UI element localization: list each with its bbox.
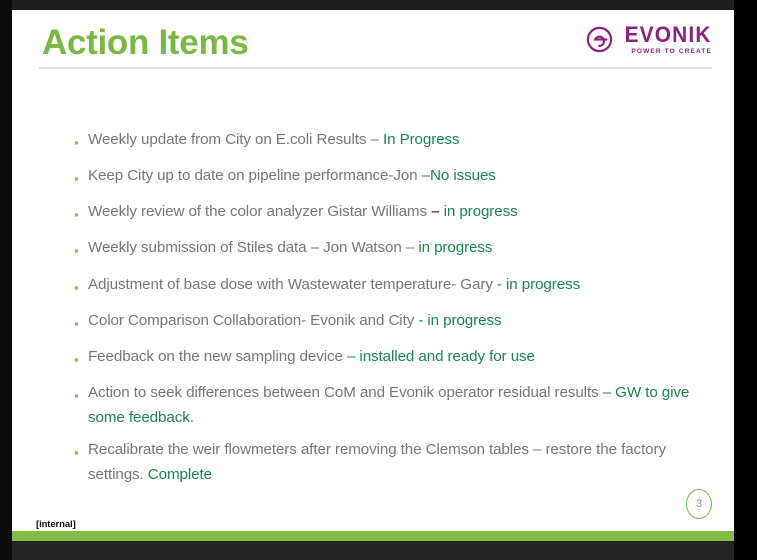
list-item-text: Action to seek differences between CoM a… <box>88 381 714 430</box>
page-title: Action Items <box>42 23 248 63</box>
slide-viewer: Action Items EVONIK POWER TO CREATE <box>0 0 757 560</box>
footer-accent-bar <box>12 531 734 541</box>
list-item: Keep City up to date on pipeline perform… <box>74 164 714 189</box>
bullet-icon <box>74 128 88 149</box>
evonik-wordmark: EVONIK POWER TO CREATE <box>620 24 712 56</box>
bullet-icon <box>74 438 88 459</box>
viewer-bottom-band <box>0 541 757 560</box>
slide-title-area: Action Items EVONIK POWER TO CREATE <box>12 10 734 72</box>
viewer-right-band <box>734 0 757 560</box>
status-text: –No issues <box>422 167 496 184</box>
list-item: Feedback on the new sampling device – in… <box>74 345 714 370</box>
bullet-icon <box>74 309 88 330</box>
list-item-text: Adjustment of base dose with Wastewater … <box>88 273 714 298</box>
list-item: Recalibrate the weir flowmeters after re… <box>74 438 714 487</box>
bullet-icon <box>74 345 88 366</box>
list-item: Weekly update from City on E.coli Result… <box>74 128 714 153</box>
title-divider <box>39 67 712 69</box>
list-item-text: Recalibrate the weir flowmeters after re… <box>88 438 714 487</box>
status-text: – installed and ready for use <box>347 348 535 365</box>
evonik-e-circle-icon <box>586 26 613 53</box>
viewer-top-band <box>0 0 757 10</box>
list-item: Color Comparison Collaboration- Evonik a… <box>74 309 714 334</box>
viewer-left-band <box>0 0 12 560</box>
brand-name: EVONIK <box>625 24 712 46</box>
list-item-text: Weekly review of the color analyzer Gist… <box>88 200 714 225</box>
status-text: - in progress <box>418 312 501 329</box>
status-text: in progress <box>439 203 517 220</box>
bullet-icon <box>74 200 88 221</box>
bullet-icon <box>74 273 88 294</box>
slide-canvas: Action Items EVONIK POWER TO CREATE <box>12 10 734 541</box>
status-text: - in progress <box>497 276 580 293</box>
list-item-text: Feedback on the new sampling device – in… <box>88 345 714 370</box>
status-text: Complete <box>148 466 212 483</box>
list-item-text: Weekly submission of Stiles data – Jon W… <box>88 236 714 261</box>
evonik-logo: EVONIK POWER TO CREATE <box>586 24 712 56</box>
status-text: In Progress <box>383 131 460 148</box>
action-items-list: Weekly update from City on E.coli Result… <box>74 128 714 495</box>
bullet-icon <box>74 164 88 185</box>
list-item-text: Keep City up to date on pipeline perform… <box>88 164 714 189</box>
status-text: in progress <box>418 239 492 256</box>
list-item: Adjustment of base dose with Wastewater … <box>74 273 714 298</box>
list-item-text: Weekly update from City on E.coli Result… <box>88 128 714 153</box>
list-item-text: Color Comparison Collaboration- Evonik a… <box>88 309 714 334</box>
page-number-badge: 3 <box>686 489 712 519</box>
list-item: Action to seek differences between CoM a… <box>74 381 714 430</box>
confidentiality-label: [internal] <box>36 519 76 530</box>
list-item: Weekly review of the color analyzer Gist… <box>74 200 714 225</box>
bullet-icon <box>74 381 88 402</box>
list-item: Weekly submission of Stiles data – Jon W… <box>74 236 714 261</box>
brand-tagline: POWER TO CREATE <box>631 49 712 56</box>
bullet-icon <box>74 236 88 257</box>
